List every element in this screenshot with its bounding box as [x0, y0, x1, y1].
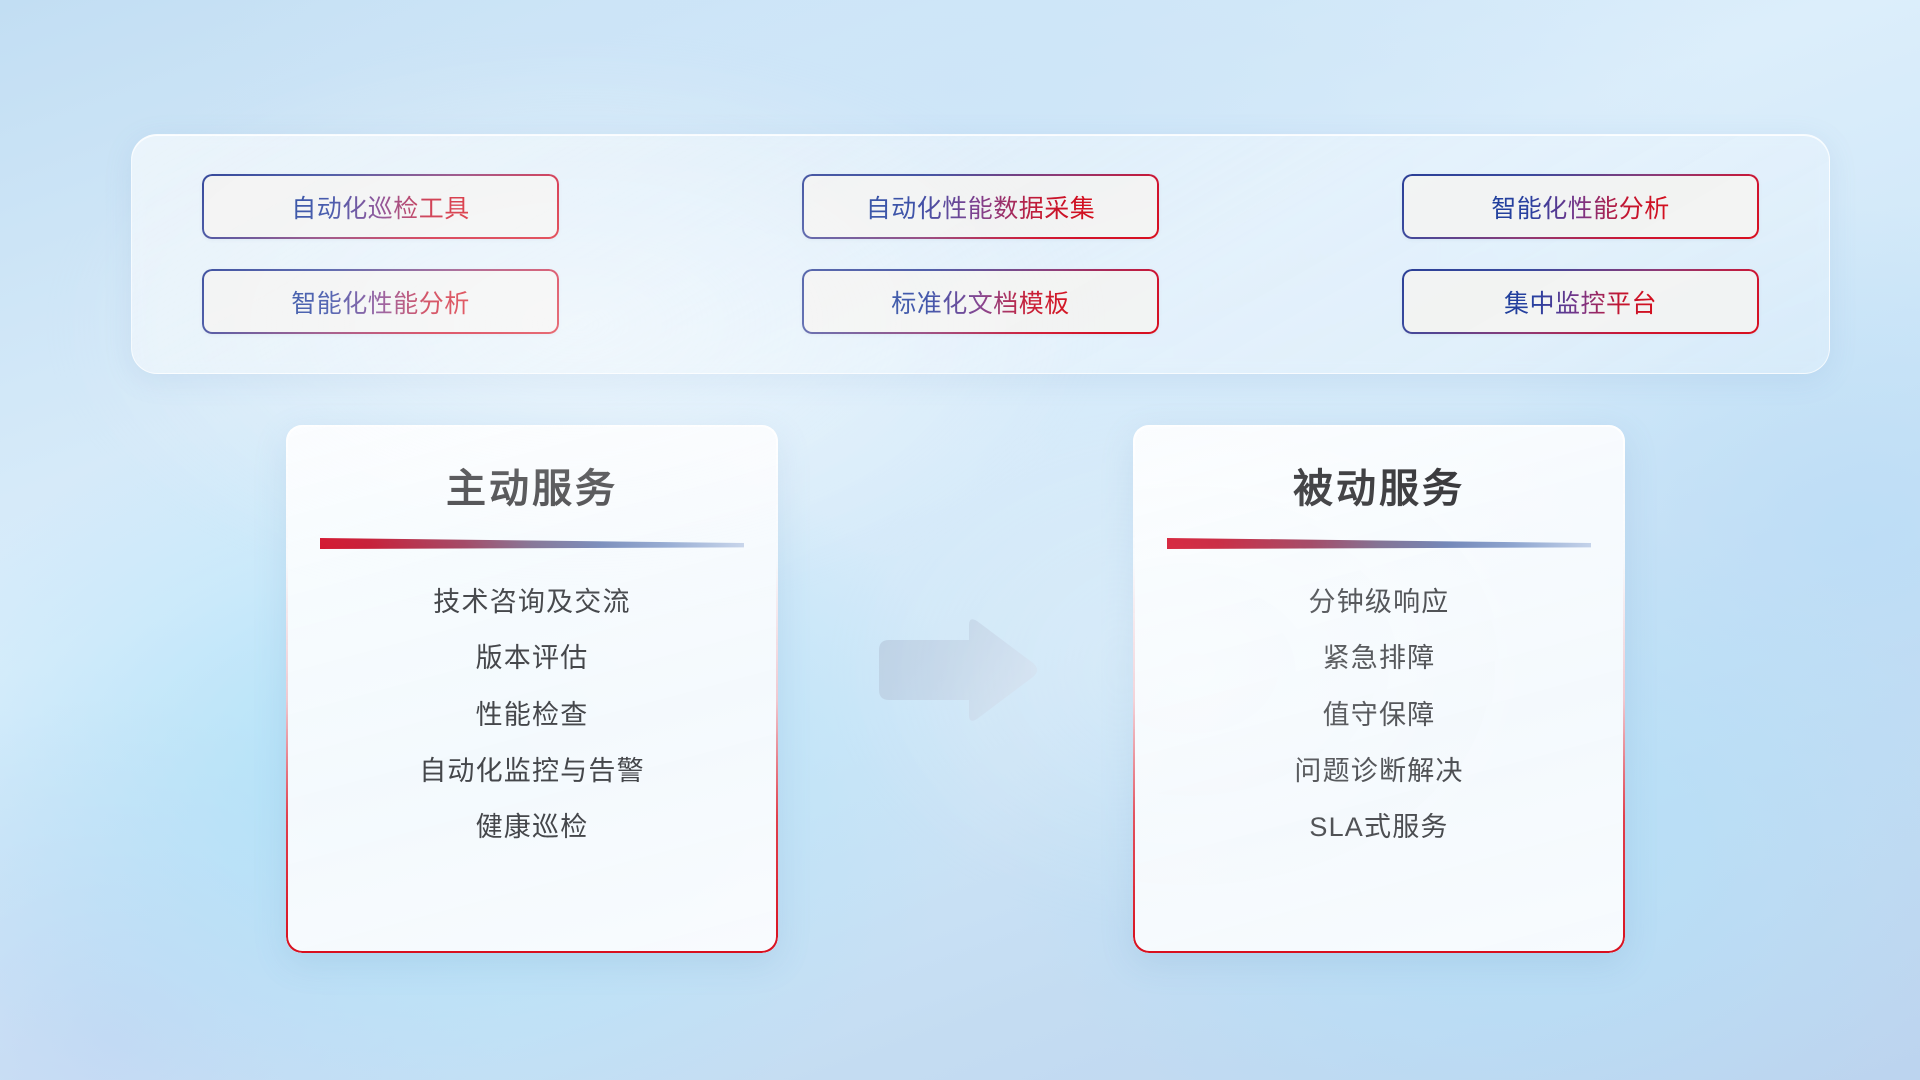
- list-item: 性能检查: [476, 696, 589, 734]
- service-list-passive: 分钟级响应 紧急排障 值守保障 问题诊断解决 SLA式服务: [1167, 583, 1591, 847]
- list-item: 分钟级响应: [1309, 583, 1450, 621]
- list-item: SLA式服务: [1309, 808, 1448, 846]
- list-item: 健康巡检: [476, 808, 589, 846]
- tag-label: 自动化巡检工具: [291, 189, 470, 225]
- list-item: 值守保障: [1323, 696, 1436, 734]
- service-card-passive: 被动服务 分钟级响应 紧急排障 值守保障 问题诊断解决 SLA式服务: [1133, 425, 1625, 953]
- tag-standardized-document-template[interactable]: 标准化文档模板: [802, 269, 1159, 334]
- tag-intelligent-performance-analysis-top[interactable]: 智能化性能分析: [1402, 174, 1759, 239]
- tag-label: 智能化性能分析: [1491, 189, 1670, 225]
- list-item: 技术咨询及交流: [433, 583, 630, 621]
- tag-centralized-monitoring-platform[interactable]: 集中监控平台: [1402, 269, 1759, 334]
- tag-label: 智能化性能分析: [291, 284, 470, 320]
- title-underline-active: [320, 537, 744, 549]
- tag-label: 集中监控平台: [1504, 284, 1657, 320]
- service-list-active: 技术咨询及交流 版本评估 性能检查 自动化监控与告警 健康巡检: [320, 583, 744, 847]
- tag-label: 自动化性能数据采集: [866, 189, 1096, 225]
- card-title-passive: 被动服务: [1293, 469, 1465, 509]
- list-item: 版本评估: [476, 639, 589, 677]
- card-title-active: 主动服务: [446, 469, 618, 509]
- tag-intelligent-performance-analysis-bottom[interactable]: 智能化性能分析: [202, 269, 559, 334]
- tag-row-1: 自动化巡检工具 自动化性能数据采集 智能化性能分析: [202, 174, 1759, 239]
- diagram-canvas: 自动化巡检工具 自动化性能数据采集 智能化性能分析 智能化性能分析 标准化文档模…: [0, 0, 1920, 1080]
- tag-automated-inspection-tool[interactable]: 自动化巡检工具: [202, 174, 559, 239]
- list-item: 问题诊断解决: [1294, 752, 1463, 790]
- capability-tag-panel: 自动化巡检工具 自动化性能数据采集 智能化性能分析 智能化性能分析 标准化文档模…: [131, 134, 1830, 374]
- tag-row-2: 智能化性能分析 标准化文档模板 集中监控平台: [202, 269, 1759, 334]
- service-card-active: 主动服务 技术咨询及交流 版本评估 性能检查 自动化监控与告警 健康巡检: [286, 425, 778, 953]
- title-underline-passive: [1167, 537, 1591, 549]
- tag-label: 标准化文档模板: [891, 284, 1070, 320]
- list-item: 紧急排障: [1323, 639, 1436, 677]
- tag-automated-performance-data-collection[interactable]: 自动化性能数据采集: [802, 174, 1159, 239]
- list-item: 自动化监控与告警: [419, 752, 645, 790]
- right-arrow-icon: [873, 616, 1039, 724]
